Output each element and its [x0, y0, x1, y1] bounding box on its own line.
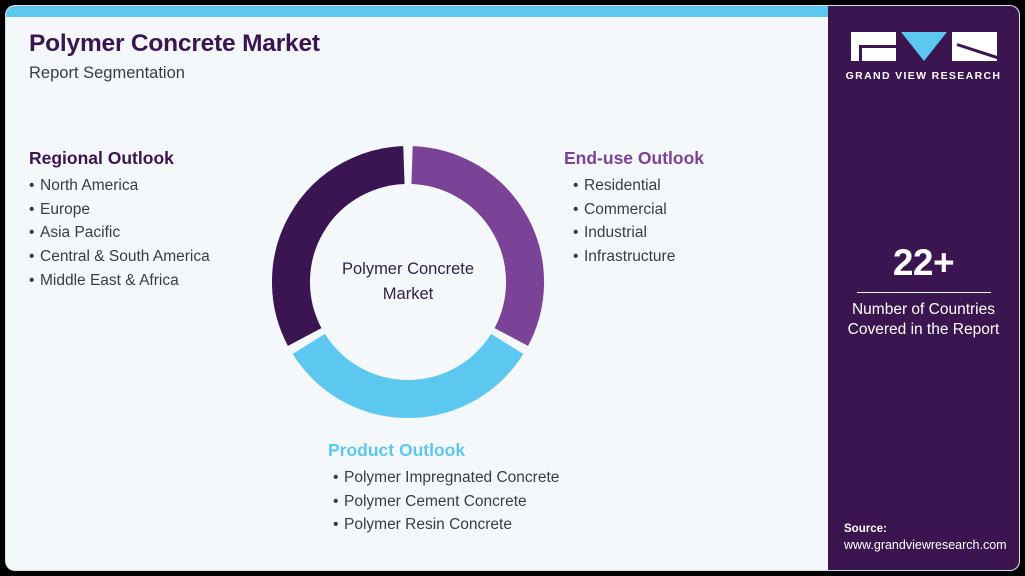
list-item: •Industrial: [564, 221, 804, 245]
page-subtitle: Report Segmentation: [29, 64, 589, 83]
list-item-label: Middle East & Africa: [40, 272, 179, 289]
list-item: •Central & South America: [29, 245, 279, 269]
list-item-label: Residential: [584, 177, 661, 194]
regional-outlook-section: Regional Outlook •North America •Europe …: [29, 148, 279, 293]
stat-caption-line-1: Number of Countries: [828, 300, 1019, 320]
enduse-outlook-heading: End-use Outlook: [564, 148, 804, 169]
brand-logo: GRAND VIEW RESEARCH: [828, 32, 1019, 82]
donut-segment-product: [309, 344, 507, 399]
enduse-outlook-list: •Residential •Commercial •Industrial •In…: [564, 174, 804, 269]
enduse-outlook-section: End-use Outlook •Residential •Commercial…: [564, 148, 804, 269]
list-item: •Commercial: [564, 198, 804, 222]
bullet-icon: •: [29, 198, 40, 222]
list-item: •North America: [29, 174, 279, 198]
logo-g-icon: [851, 32, 896, 61]
stat-block: 22+ Number of Countries Covered in the R…: [828, 244, 1019, 340]
bullet-icon: •: [333, 466, 344, 490]
bullet-icon: •: [29, 269, 40, 293]
donut-segment-regional: [291, 165, 404, 337]
list-item-label: Commercial: [584, 201, 667, 218]
list-item: •Middle East & Africa: [29, 269, 279, 293]
list-item-label: Europe: [40, 201, 90, 218]
logo-v-triangle-icon: [901, 32, 947, 61]
list-item-label: Industrial: [584, 224, 647, 241]
list-item-label: Polymer Resin Concrete: [344, 516, 512, 533]
source-label: Source:: [844, 521, 1019, 537]
list-item-label: Polymer Cement Concrete: [344, 493, 527, 510]
list-item-label: Asia Pacific: [40, 224, 120, 241]
bullet-icon: •: [573, 245, 584, 269]
list-item: •Polymer Impregnated Concrete: [328, 466, 688, 490]
logo-wordmark: GRAND VIEW RESEARCH: [828, 70, 1019, 82]
list-item: •Asia Pacific: [29, 221, 279, 245]
stat-caption-line-2: Covered in the Report: [828, 320, 1019, 340]
brand-side-panel: GRAND VIEW RESEARCH 22+ Number of Countr…: [828, 6, 1019, 570]
bullet-icon: •: [573, 198, 584, 222]
list-item: •Polymer Cement Concrete: [328, 490, 688, 514]
list-item: •Europe: [29, 198, 279, 222]
source-url[interactable]: www.grandviewresearch.com: [844, 537, 1019, 554]
segmentation-donut-chart: Polymer Concrete Market: [264, 138, 552, 426]
list-item-label: Infrastructure: [584, 248, 675, 265]
stat-value: 22+: [828, 244, 1019, 283]
list-item-label: North America: [40, 177, 138, 194]
list-item: •Polymer Resin Concrete: [328, 513, 688, 537]
list-item: •Infrastructure: [564, 245, 804, 269]
donut-segment-enduse: [412, 165, 525, 337]
bullet-icon: •: [29, 221, 40, 245]
list-item-label: Polymer Impregnated Concrete: [344, 469, 559, 486]
page-title: Polymer Concrete Market: [29, 30, 589, 58]
logo-r-icon: [952, 32, 997, 61]
product-outlook-list: •Polymer Impregnated Concrete •Polymer C…: [328, 466, 688, 537]
list-item-label: Central & South America: [40, 248, 210, 265]
regional-outlook-heading: Regional Outlook: [29, 148, 279, 169]
bullet-icon: •: [573, 174, 584, 198]
bullet-icon: •: [333, 490, 344, 514]
logo-marks: [828, 32, 1019, 62]
regional-outlook-list: •North America •Europe •Asia Pacific •Ce…: [29, 174, 279, 293]
source-block: Source: www.grandviewresearch.com: [844, 521, 1019, 554]
bullet-icon: •: [29, 174, 40, 198]
infographic-canvas: Polymer Concrete Market Report Segmentat…: [6, 6, 1019, 570]
donut-svg: [264, 138, 552, 426]
bullet-icon: •: [333, 513, 344, 537]
product-outlook-heading: Product Outlook: [328, 440, 688, 461]
header: Polymer Concrete Market Report Segmentat…: [29, 30, 589, 83]
product-outlook-section: Product Outlook •Polymer Impregnated Con…: [328, 440, 688, 537]
bullet-icon: •: [29, 245, 40, 269]
bullet-icon: •: [573, 221, 584, 245]
list-item: •Residential: [564, 174, 804, 198]
stat-divider: [857, 292, 991, 294]
